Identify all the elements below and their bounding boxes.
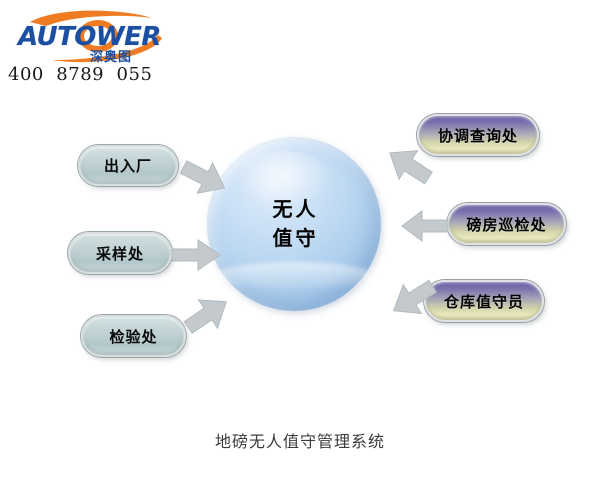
brand-logo: AUTOWER 深奥图 bbox=[12, 8, 192, 66]
diagram-caption: 地磅无人值守管理系统 bbox=[0, 428, 600, 452]
center-label-line2: 值守 bbox=[270, 224, 319, 253]
center-node-label: 无人 值守 bbox=[207, 137, 381, 311]
contact-phone-number: 400 8789 055 bbox=[8, 64, 152, 85]
node-right-warehouse-attendant[interactable]: 仓库值守员 bbox=[424, 280, 544, 322]
node-right-weighhouse-patrol-office[interactable]: 磅房巡检处 bbox=[447, 203, 566, 245]
node-right-coordination-inquiry-office[interactable]: 协调查询处 bbox=[417, 114, 539, 156]
center-node-unattended: 无人 值守 bbox=[207, 137, 381, 311]
arrow-left-weighhouse-patrol bbox=[400, 209, 450, 243]
node-left-inspection-office[interactable]: 检验处 bbox=[81, 315, 186, 357]
node-left-entry-exit-plant[interactable]: 出入厂 bbox=[78, 145, 178, 186]
center-label-line1: 无人 bbox=[270, 195, 319, 224]
node-left-sampling-office[interactable]: 采样处 bbox=[68, 232, 172, 274]
logo-chinese-name: 深奥图 bbox=[90, 46, 132, 65]
